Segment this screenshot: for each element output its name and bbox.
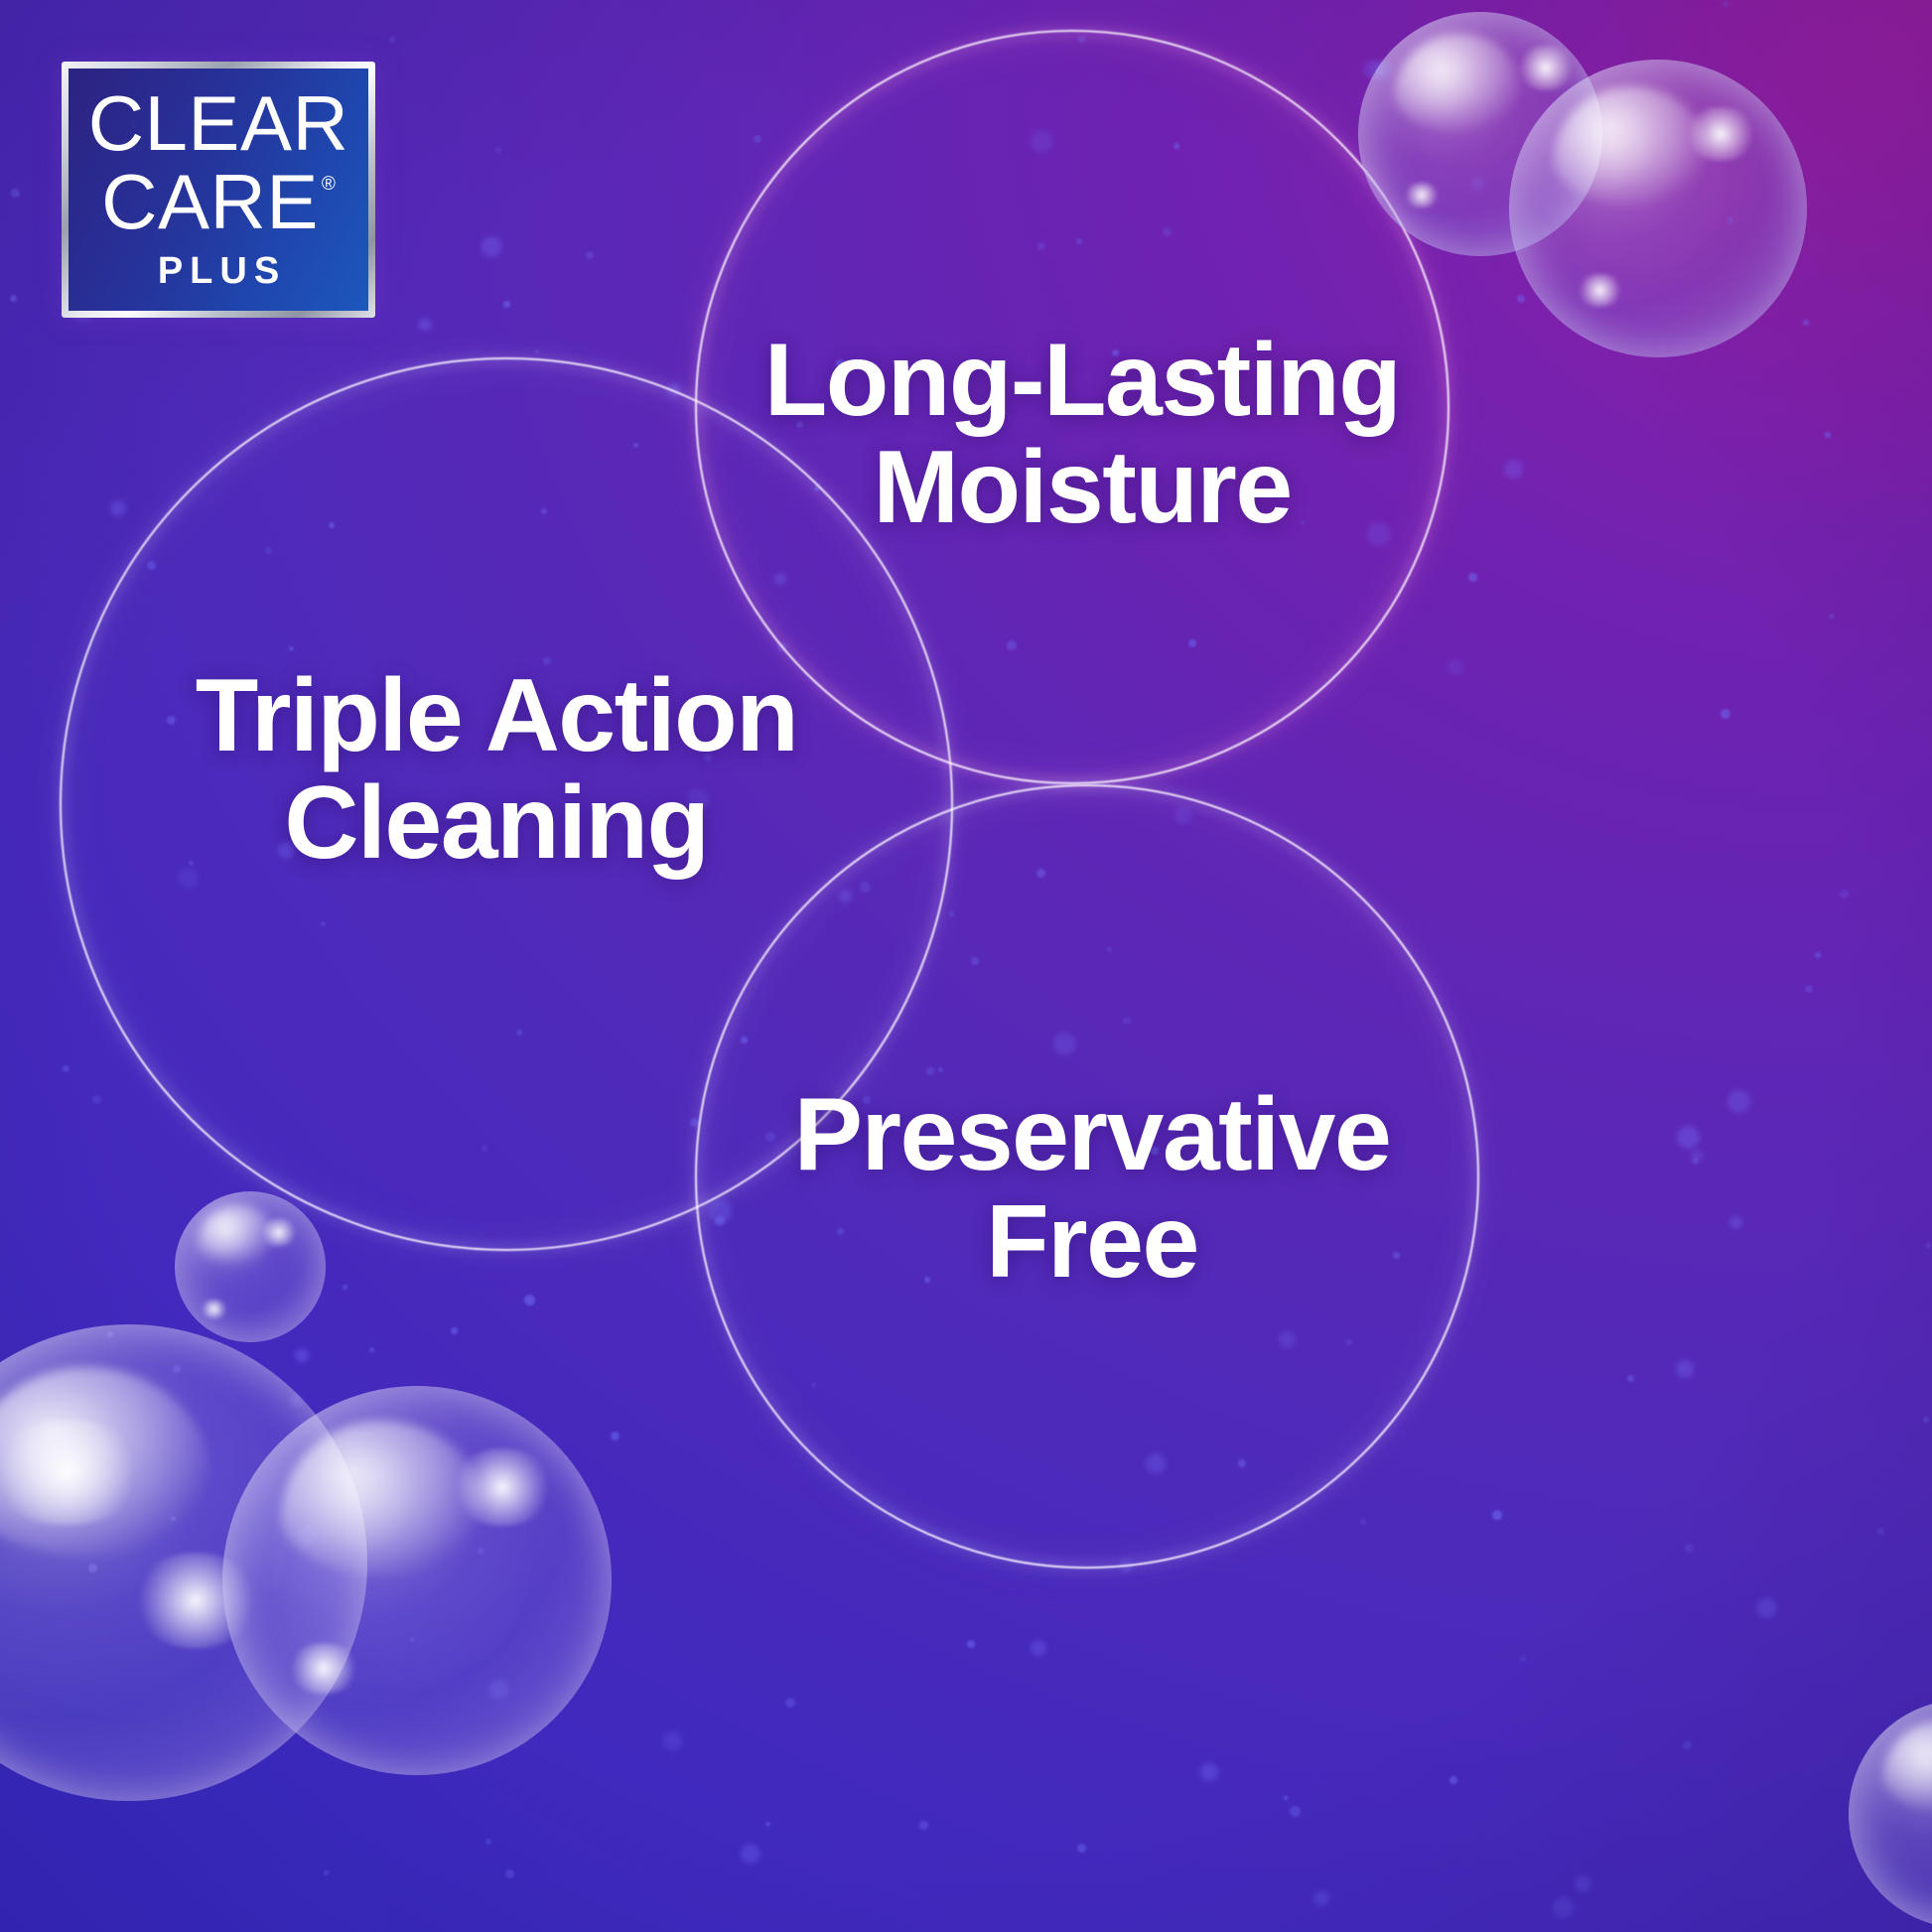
logo-care-row: CARE ® [101,165,336,239]
bubble-top-right-2 [1509,60,1807,357]
logo-word-plus: PLUS [151,250,286,293]
logo-inner-panel: CLEAR CARE ® PLUS [69,69,368,311]
claim-long-lasting-moisture: Long-Lasting Moisture [735,328,1430,541]
claim-preservative-free: Preservative Free [755,1082,1430,1296]
bubble-bottom-left-mid [222,1386,612,1775]
marketing-image: CLEAR CARE ® PLUS Long-Lasting Moisture … [0,0,1932,1932]
bubble-bottom-left-small [175,1191,326,1342]
claim-triple-action-cleaning: Triple Action Cleaning [149,663,844,877]
clear-care-plus-logo: CLEAR CARE ® PLUS [62,62,375,318]
registered-trademark-icon: ® [322,175,336,194]
logo-word-care: CARE [101,165,319,239]
logo-word-clear: CLEAR [88,86,349,161]
